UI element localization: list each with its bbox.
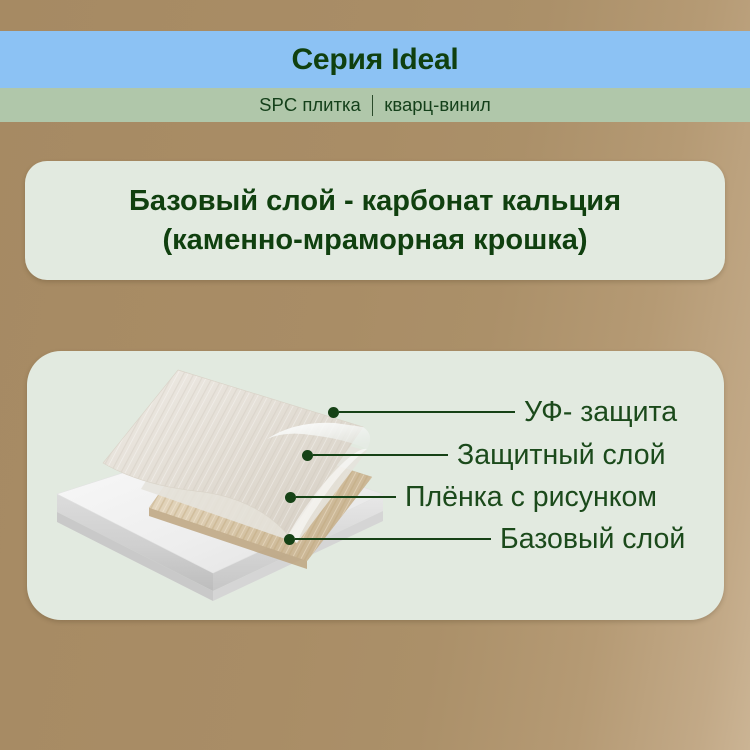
callout-protective-layer[interactable]: Защитный слой — [302, 438, 666, 472]
callout-leader-line — [339, 411, 515, 413]
subtitle-left: SPC плитка — [259, 96, 361, 115]
title-band: Серия Ideal — [0, 31, 750, 88]
page-title: Серия Ideal — [291, 45, 458, 75]
callout-uv-protection[interactable]: УФ- защита — [328, 395, 677, 429]
callout-dot-icon — [328, 407, 339, 418]
base-layer-card-line-2: (каменно-мраморная крошка) — [162, 221, 587, 259]
callout-leader-line — [296, 496, 396, 498]
callout-leader-line — [313, 454, 448, 456]
callout-decor-film[interactable]: Плёнка с рисунком — [285, 480, 657, 514]
base-layer-card: Базовый слой - карбонат кальция (каменно… — [25, 161, 725, 280]
layer-diagram-card: УФ- защита Защитный слой Плёнка с рисунк… — [27, 351, 724, 620]
base-layer-card-line-1: Базовый слой - карбонат кальция — [129, 182, 621, 220]
subtitle-divider-icon — [372, 95, 374, 116]
callout-dot-icon — [284, 534, 295, 545]
callout-label: Защитный слой — [457, 441, 666, 470]
callout-label: Плёнка с рисунком — [405, 483, 657, 512]
subtitle-band: SPC плитка кварц-винил — [0, 88, 750, 122]
callout-base-layer[interactable]: Базовый слой — [284, 522, 685, 556]
callout-label: Базовый слой — [500, 525, 685, 554]
subtitle: SPC плитка кварц-винил — [259, 95, 491, 116]
callout-label: УФ- защита — [524, 398, 677, 427]
callout-leader-line — [295, 538, 491, 540]
poster-canvas: Серия Ideal SPC плитка кварц-винил Базов… — [0, 0, 750, 750]
callout-dot-icon — [285, 492, 296, 503]
subtitle-right: кварц-винил — [384, 96, 491, 115]
callout-dot-icon — [302, 450, 313, 461]
